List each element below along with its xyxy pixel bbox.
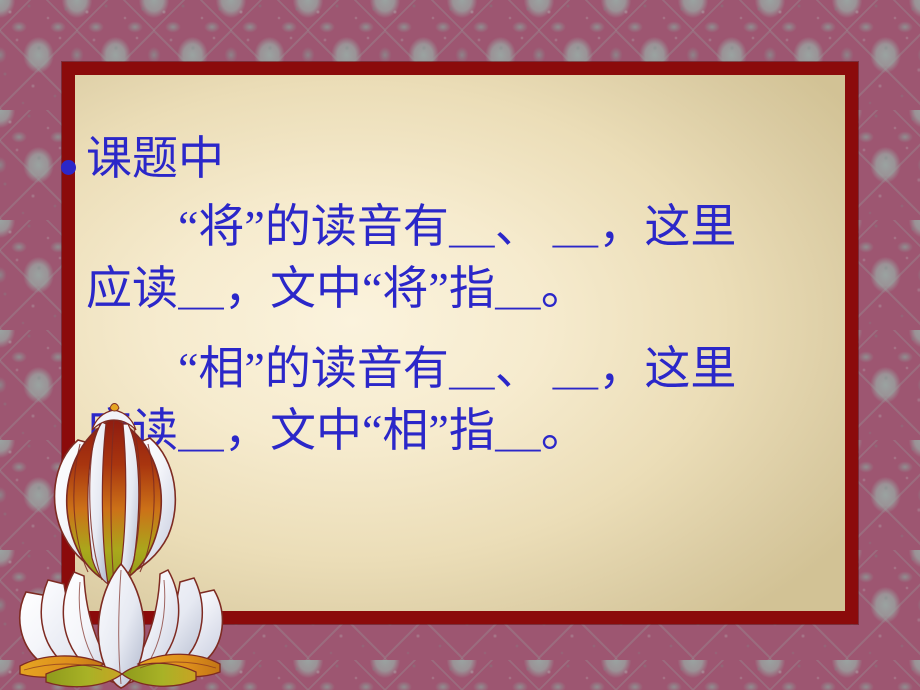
paragraph-spacer: [86, 320, 776, 338]
bullet-point-icon: [61, 160, 76, 175]
paragraph-jiang: “将”的读音有＿、 ＿，这里应读＿，文中“将”指＿。: [86, 196, 776, 320]
slide-heading-line: 课题中: [86, 128, 776, 190]
paragraph-xiang: “相”的读音有＿、 ＿，这里应读＿，文中“相”指＿。: [86, 338, 776, 462]
slide-text-body: 课题中 “将”的读音有＿、 ＿，这里应读＿，文中“将”指＿。 “相”的读音有＿、…: [86, 128, 776, 462]
slide-canvas: 课题中 “将”的读音有＿、 ＿，这里应读＿，文中“将”指＿。 “相”的读音有＿、…: [0, 0, 920, 690]
